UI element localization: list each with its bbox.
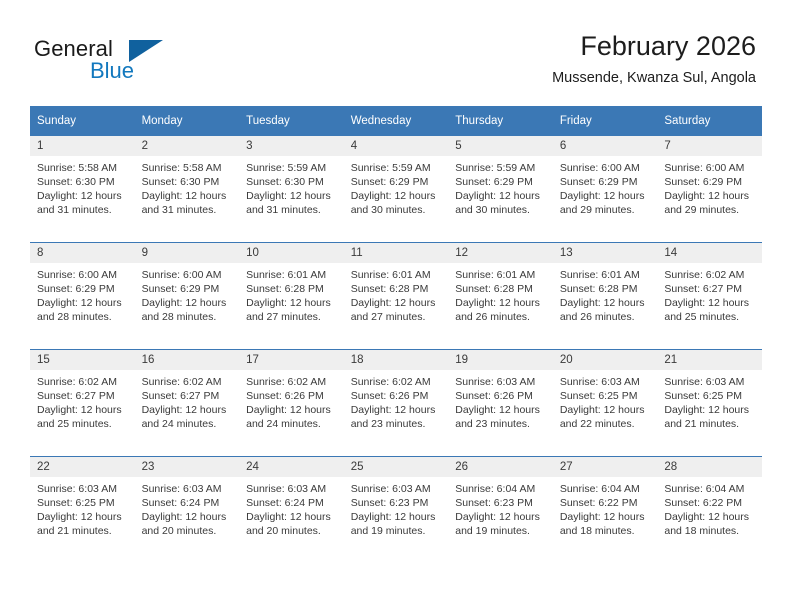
sunrise-text: Sunrise: 6:03 AM [37,482,128,496]
calendar-day-cell[interactable]: 16 Sunrise: 6:02 AM Sunset: 6:27 PM Dayl… [135,350,240,457]
sunrise-text: Sunrise: 6:01 AM [455,268,546,282]
sunrise-text: Sunrise: 6:00 AM [664,161,755,175]
daylight-text-line2: and 19 minutes. [351,524,442,538]
day-number: 3 [239,136,344,156]
day-details: Sunrise: 6:02 AM Sunset: 6:27 PM Dayligh… [30,370,135,456]
daylight-text-line2: and 31 minutes. [142,203,233,217]
sunrise-text: Sunrise: 6:02 AM [246,375,337,389]
day-number: 18 [344,350,449,370]
weekday-header-monday: Monday [135,106,240,136]
sunset-text: Sunset: 6:22 PM [560,496,651,510]
logo-text-blue: Blue [90,58,134,84]
sunrise-text: Sunrise: 6:00 AM [560,161,651,175]
sunrise-text: Sunrise: 5:59 AM [246,161,337,175]
sunset-text: Sunset: 6:23 PM [351,496,442,510]
calendar-day-cell[interactable]: 19 Sunrise: 6:03 AM Sunset: 6:26 PM Dayl… [448,350,553,457]
sunrise-text: Sunrise: 6:04 AM [455,482,546,496]
calendar-day-cell[interactable]: 23 Sunrise: 6:03 AM Sunset: 6:24 PM Dayl… [135,457,240,564]
sunset-text: Sunset: 6:23 PM [455,496,546,510]
day-details: Sunrise: 6:04 AM Sunset: 6:23 PM Dayligh… [448,477,553,563]
sunset-text: Sunset: 6:22 PM [664,496,755,510]
sunset-text: Sunset: 6:27 PM [37,389,128,403]
daylight-text-line1: Daylight: 12 hours [37,296,128,310]
weekday-header-saturday: Saturday [657,106,762,136]
sunset-text: Sunset: 6:28 PM [246,282,337,296]
sunrise-text: Sunrise: 6:00 AM [142,268,233,282]
sunset-text: Sunset: 6:25 PM [560,389,651,403]
day-details: Sunrise: 6:03 AM Sunset: 6:25 PM Dayligh… [657,370,762,456]
day-details: Sunrise: 6:01 AM Sunset: 6:28 PM Dayligh… [239,263,344,349]
daylight-text-line2: and 20 minutes. [142,524,233,538]
daylight-text-line2: and 26 minutes. [455,310,546,324]
daylight-text-line2: and 22 minutes. [560,417,651,431]
day-number: 20 [553,350,658,370]
daylight-text-line2: and 24 minutes. [246,417,337,431]
day-details: Sunrise: 6:01 AM Sunset: 6:28 PM Dayligh… [448,263,553,349]
day-number: 12 [448,243,553,263]
day-details: Sunrise: 6:01 AM Sunset: 6:28 PM Dayligh… [553,263,658,349]
day-number: 24 [239,457,344,477]
daylight-text-line1: Daylight: 12 hours [560,510,651,524]
sunrise-text: Sunrise: 6:04 AM [664,482,755,496]
sunrise-text: Sunrise: 6:03 AM [142,482,233,496]
calendar-day-cell[interactable]: 24 Sunrise: 6:03 AM Sunset: 6:24 PM Dayl… [239,457,344,564]
day-details: Sunrise: 5:59 AM Sunset: 6:29 PM Dayligh… [448,156,553,242]
daylight-text-line2: and 23 minutes. [455,417,546,431]
daylight-text-line2: and 29 minutes. [664,203,755,217]
daylight-text-line1: Daylight: 12 hours [455,510,546,524]
daylight-text-line2: and 19 minutes. [455,524,546,538]
calendar-day-cell[interactable]: 2 Sunrise: 5:58 AM Sunset: 6:30 PM Dayli… [135,136,240,243]
calendar-week-row: 15 Sunrise: 6:02 AM Sunset: 6:27 PM Dayl… [30,350,762,457]
calendar-day-cell[interactable]: 28 Sunrise: 6:04 AM Sunset: 6:22 PM Dayl… [657,457,762,564]
calendar-table: Sunday Monday Tuesday Wednesday Thursday… [30,106,762,563]
sunset-text: Sunset: 6:28 PM [455,282,546,296]
daylight-text-line2: and 27 minutes. [351,310,442,324]
sunrise-text: Sunrise: 6:02 AM [664,268,755,282]
sunset-text: Sunset: 6:27 PM [142,389,233,403]
day-number: 25 [344,457,449,477]
day-number: 1 [30,136,135,156]
daylight-text-line2: and 28 minutes. [142,310,233,324]
daylight-text-line2: and 21 minutes. [37,524,128,538]
page-subtitle: Mussende, Kwanza Sul, Angola [552,69,756,87]
sunset-text: Sunset: 6:28 PM [351,282,442,296]
sunrise-text: Sunrise: 5:59 AM [455,161,546,175]
daylight-text-line1: Daylight: 12 hours [664,296,755,310]
sunrise-text: Sunrise: 6:03 AM [351,482,442,496]
day-number: 8 [30,243,135,263]
sunset-text: Sunset: 6:26 PM [246,389,337,403]
daylight-text-line1: Daylight: 12 hours [246,296,337,310]
daylight-text-line2: and 26 minutes. [560,310,651,324]
sunrise-text: Sunrise: 6:01 AM [351,268,442,282]
daylight-text-line1: Daylight: 12 hours [37,189,128,203]
sunset-text: Sunset: 6:26 PM [455,389,546,403]
daylight-text-line1: Daylight: 12 hours [560,403,651,417]
day-details: Sunrise: 6:00 AM Sunset: 6:29 PM Dayligh… [657,156,762,242]
daylight-text-line1: Daylight: 12 hours [664,189,755,203]
sunrise-text: Sunrise: 6:01 AM [560,268,651,282]
daylight-text-line1: Daylight: 12 hours [664,510,755,524]
calendar-day-cell[interactable]: 7 Sunrise: 6:00 AM Sunset: 6:29 PM Dayli… [657,136,762,243]
day-details: Sunrise: 6:03 AM Sunset: 6:23 PM Dayligh… [344,477,449,563]
daylight-text-line1: Daylight: 12 hours [455,403,546,417]
sunset-text: Sunset: 6:30 PM [246,175,337,189]
daylight-text-line1: Daylight: 12 hours [351,296,442,310]
calendar-day-cell[interactable]: 10 Sunrise: 6:01 AM Sunset: 6:28 PM Dayl… [239,243,344,350]
day-number: 5 [448,136,553,156]
weekday-header-thursday: Thursday [448,106,553,136]
day-number: 21 [657,350,762,370]
day-number: 15 [30,350,135,370]
sunset-text: Sunset: 6:24 PM [246,496,337,510]
day-details: Sunrise: 5:58 AM Sunset: 6:30 PM Dayligh… [135,156,240,242]
daylight-text-line2: and 27 minutes. [246,310,337,324]
daylight-text-line1: Daylight: 12 hours [560,296,651,310]
daylight-text-line2: and 29 minutes. [560,203,651,217]
day-number: 6 [553,136,658,156]
calendar-day-cell[interactable]: 26 Sunrise: 6:04 AM Sunset: 6:23 PM Dayl… [448,457,553,564]
day-details: Sunrise: 6:00 AM Sunset: 6:29 PM Dayligh… [553,156,658,242]
daylight-text-line2: and 28 minutes. [37,310,128,324]
sunrise-text: Sunrise: 6:02 AM [37,375,128,389]
calendar-week-row: 1 Sunrise: 5:58 AM Sunset: 6:30 PM Dayli… [30,136,762,243]
sunrise-text: Sunrise: 6:00 AM [37,268,128,282]
daylight-text-line1: Daylight: 12 hours [351,189,442,203]
daylight-text-line1: Daylight: 12 hours [37,403,128,417]
day-details: Sunrise: 6:03 AM Sunset: 6:24 PM Dayligh… [135,477,240,563]
calendar-day-cell[interactable]: 21 Sunrise: 6:03 AM Sunset: 6:25 PM Dayl… [657,350,762,457]
day-details: Sunrise: 6:01 AM Sunset: 6:28 PM Dayligh… [344,263,449,349]
calendar-day-cell[interactable]: 8 Sunrise: 6:00 AM Sunset: 6:29 PM Dayli… [30,243,135,350]
sunrise-text: Sunrise: 6:03 AM [455,375,546,389]
day-number: 19 [448,350,553,370]
calendar-day-cell[interactable]: 11 Sunrise: 6:01 AM Sunset: 6:28 PM Dayl… [344,243,449,350]
sunset-text: Sunset: 6:29 PM [37,282,128,296]
daylight-text-line2: and 18 minutes. [560,524,651,538]
sunset-text: Sunset: 6:27 PM [664,282,755,296]
day-details: Sunrise: 5:59 AM Sunset: 6:29 PM Dayligh… [344,156,449,242]
day-number: 14 [657,243,762,263]
sunrise-text: Sunrise: 5:58 AM [142,161,233,175]
sunset-text: Sunset: 6:29 PM [142,282,233,296]
daylight-text-line2: and 31 minutes. [246,203,337,217]
day-number: 4 [344,136,449,156]
calendar-week-row: 8 Sunrise: 6:00 AM Sunset: 6:29 PM Dayli… [30,243,762,350]
day-number: 2 [135,136,240,156]
sunset-text: Sunset: 6:24 PM [142,496,233,510]
day-number: 17 [239,350,344,370]
sunset-text: Sunset: 6:29 PM [455,175,546,189]
day-number: 10 [239,243,344,263]
calendar-week-row: 22 Sunrise: 6:03 AM Sunset: 6:25 PM Dayl… [30,457,762,564]
daylight-text-line2: and 30 minutes. [351,203,442,217]
sunrise-text: Sunrise: 6:02 AM [142,375,233,389]
day-details: Sunrise: 6:04 AM Sunset: 6:22 PM Dayligh… [553,477,658,563]
sunset-text: Sunset: 6:29 PM [351,175,442,189]
day-details: Sunrise: 6:03 AM Sunset: 6:26 PM Dayligh… [448,370,553,456]
calendar-day-cell[interactable]: 17 Sunrise: 6:02 AM Sunset: 6:26 PM Dayl… [239,350,344,457]
daylight-text-line2: and 30 minutes. [455,203,546,217]
daylight-text-line1: Daylight: 12 hours [664,403,755,417]
calendar-day-cell[interactable]: 14 Sunrise: 6:02 AM Sunset: 6:27 PM Dayl… [657,243,762,350]
page-header: General Blue February 2026 Mussende, Kwa… [0,0,792,100]
day-number: 23 [135,457,240,477]
day-details: Sunrise: 6:04 AM Sunset: 6:22 PM Dayligh… [657,477,762,563]
sunrise-text: Sunrise: 5:58 AM [37,161,128,175]
day-details: Sunrise: 6:02 AM Sunset: 6:26 PM Dayligh… [239,370,344,456]
daylight-text-line2: and 18 minutes. [664,524,755,538]
calendar-day-cell[interactable]: 18 Sunrise: 6:02 AM Sunset: 6:26 PM Dayl… [344,350,449,457]
calendar-day-cell[interactable]: 3 Sunrise: 5:59 AM Sunset: 6:30 PM Dayli… [239,136,344,243]
day-details: Sunrise: 5:59 AM Sunset: 6:30 PM Dayligh… [239,156,344,242]
daylight-text-line2: and 25 minutes. [664,310,755,324]
sunset-text: Sunset: 6:28 PM [560,282,651,296]
calendar-day-cell[interactable]: 12 Sunrise: 6:01 AM Sunset: 6:28 PM Dayl… [448,243,553,350]
calendar-day-cell[interactable]: 5 Sunrise: 5:59 AM Sunset: 6:29 PM Dayli… [448,136,553,243]
calendar-day-cell[interactable]: 22 Sunrise: 6:03 AM Sunset: 6:25 PM Dayl… [30,457,135,564]
daylight-text-line1: Daylight: 12 hours [142,189,233,203]
calendar-day-cell[interactable]: 25 Sunrise: 6:03 AM Sunset: 6:23 PM Dayl… [344,457,449,564]
daylight-text-line1: Daylight: 12 hours [142,403,233,417]
daylight-text-line1: Daylight: 12 hours [142,296,233,310]
day-number: 28 [657,457,762,477]
day-details: Sunrise: 6:00 AM Sunset: 6:29 PM Dayligh… [135,263,240,349]
general-blue-logo[interactable]: General Blue [34,36,214,86]
weekday-header-sunday: Sunday [30,106,135,136]
calendar-header-row: Sunday Monday Tuesday Wednesday Thursday… [30,106,762,136]
calendar-day-cell[interactable]: 20 Sunrise: 6:03 AM Sunset: 6:25 PM Dayl… [553,350,658,457]
day-details: Sunrise: 6:02 AM Sunset: 6:27 PM Dayligh… [657,263,762,349]
daylight-text-line1: Daylight: 12 hours [246,510,337,524]
calendar-day-cell[interactable]: 1 Sunrise: 5:58 AM Sunset: 6:30 PM Dayli… [30,136,135,243]
daylight-text-line2: and 25 minutes. [37,417,128,431]
sunrise-text: Sunrise: 6:04 AM [560,482,651,496]
sunrise-text: Sunrise: 5:59 AM [351,161,442,175]
weekday-header-wednesday: Wednesday [344,106,449,136]
logo-triangle-icon [129,40,163,62]
day-number: 16 [135,350,240,370]
daylight-text-line1: Daylight: 12 hours [455,296,546,310]
day-number: 13 [553,243,658,263]
day-details: Sunrise: 6:00 AM Sunset: 6:29 PM Dayligh… [30,263,135,349]
sunrise-text: Sunrise: 6:02 AM [351,375,442,389]
sunset-text: Sunset: 6:29 PM [664,175,755,189]
sunset-text: Sunset: 6:30 PM [37,175,128,189]
day-number: 26 [448,457,553,477]
day-details: Sunrise: 6:03 AM Sunset: 6:24 PM Dayligh… [239,477,344,563]
page-title: February 2026 [552,30,756,62]
day-number: 9 [135,243,240,263]
daylight-text-line2: and 23 minutes. [351,417,442,431]
daylight-text-line1: Daylight: 12 hours [142,510,233,524]
sunrise-text: Sunrise: 6:03 AM [560,375,651,389]
sunrise-text: Sunrise: 6:03 AM [664,375,755,389]
daylight-text-line1: Daylight: 12 hours [37,510,128,524]
calendar-day-cell[interactable]: 15 Sunrise: 6:02 AM Sunset: 6:27 PM Dayl… [30,350,135,457]
day-number: 22 [30,457,135,477]
daylight-text-line2: and 31 minutes. [37,203,128,217]
title-block: February 2026 Mussende, Kwanza Sul, Ango… [552,30,756,87]
day-number: 27 [553,457,658,477]
day-number: 7 [657,136,762,156]
daylight-text-line1: Daylight: 12 hours [560,189,651,203]
calendar-day-cell[interactable]: 27 Sunrise: 6:04 AM Sunset: 6:22 PM Dayl… [553,457,658,564]
calendar-day-cell[interactable]: 6 Sunrise: 6:00 AM Sunset: 6:29 PM Dayli… [553,136,658,243]
sunset-text: Sunset: 6:30 PM [142,175,233,189]
daylight-text-line2: and 20 minutes. [246,524,337,538]
daylight-text-line1: Daylight: 12 hours [351,403,442,417]
daylight-text-line1: Daylight: 12 hours [351,510,442,524]
daylight-text-line1: Daylight: 12 hours [246,189,337,203]
calendar-day-cell[interactable]: 13 Sunrise: 6:01 AM Sunset: 6:28 PM Dayl… [553,243,658,350]
day-number: 11 [344,243,449,263]
daylight-text-line1: Daylight: 12 hours [246,403,337,417]
calendar-page: General Blue February 2026 Mussende, Kwa… [0,0,792,612]
sunset-text: Sunset: 6:26 PM [351,389,442,403]
day-details: Sunrise: 6:02 AM Sunset: 6:26 PM Dayligh… [344,370,449,456]
daylight-text-line2: and 21 minutes. [664,417,755,431]
sunset-text: Sunset: 6:25 PM [664,389,755,403]
calendar-body: 1 Sunrise: 5:58 AM Sunset: 6:30 PM Dayli… [30,136,762,564]
weekday-header-friday: Friday [553,106,658,136]
sunset-text: Sunset: 6:25 PM [37,496,128,510]
weekday-header-tuesday: Tuesday [239,106,344,136]
daylight-text-line2: and 24 minutes. [142,417,233,431]
day-details: Sunrise: 6:03 AM Sunset: 6:25 PM Dayligh… [553,370,658,456]
sunrise-text: Sunrise: 6:03 AM [246,482,337,496]
day-details: Sunrise: 6:02 AM Sunset: 6:27 PM Dayligh… [135,370,240,456]
sunrise-text: Sunrise: 6:01 AM [246,268,337,282]
sunset-text: Sunset: 6:29 PM [560,175,651,189]
day-details: Sunrise: 6:03 AM Sunset: 6:25 PM Dayligh… [30,477,135,563]
day-details: Sunrise: 5:58 AM Sunset: 6:30 PM Dayligh… [30,156,135,242]
calendar-day-cell[interactable]: 4 Sunrise: 5:59 AM Sunset: 6:29 PM Dayli… [344,136,449,243]
calendar-day-cell[interactable]: 9 Sunrise: 6:00 AM Sunset: 6:29 PM Dayli… [135,243,240,350]
daylight-text-line1: Daylight: 12 hours [455,189,546,203]
